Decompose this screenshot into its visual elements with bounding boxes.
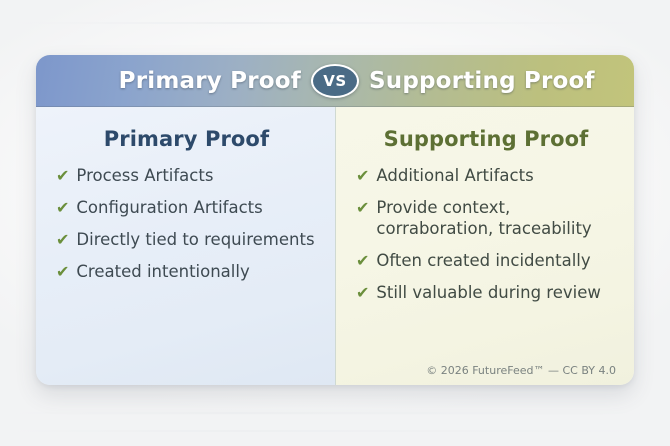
column-primary-proof: Primary Proof ✔ Process Artifacts ✔ Conf… [36,107,335,385]
point-text: Often created incidentally [376,250,590,271]
point-text: Additional Artifacts [376,165,533,186]
image-canvas: Primary Proof Supporting Proof VS Primar… [0,0,670,446]
check-icon: ✔ [356,282,369,303]
point-text: Provide context, corraboration, traceabi… [376,197,616,239]
point-text: Still valuable during review [376,282,600,303]
points-list-primary: ✔ Process Artifacts ✔ Configuration Arti… [56,165,317,282]
paper-texture-streak [0,430,670,432]
column-title-primary: Primary Proof [56,127,317,151]
check-icon: ✔ [56,229,69,250]
list-item: ✔ Provide context, corraboration, tracea… [356,197,616,239]
comparison-card: Primary Proof Supporting Proof VS Primar… [36,55,634,385]
list-item: ✔ Directly tied to requirements [56,229,317,250]
point-text: Configuration Artifacts [76,197,262,218]
list-item: ✔ Configuration Artifacts [56,197,317,218]
column-supporting-proof: Supporting Proof ✔ Additional Artifacts … [335,107,634,385]
paper-texture-streak [0,412,670,414]
list-item: ✔ Created intentionally [56,261,317,282]
point-text: Directly tied to requirements [76,229,314,250]
point-text: Created intentionally [76,261,249,282]
list-item: ✔ Additional Artifacts [356,165,616,186]
list-item: ✔ Process Artifacts [56,165,317,186]
paper-texture-streak [0,22,670,24]
list-item: ✔ Still valuable during review [356,282,616,303]
list-item: ✔ Often created incidentally [356,250,616,271]
points-list-supporting: ✔ Additional Artifacts ✔ Provide context… [356,165,616,303]
check-icon: ✔ [356,165,369,186]
check-icon: ✔ [56,197,69,218]
header-title-right: Supporting Proof [335,68,634,94]
footer-attribution: © 2026 FutureFeed™ — CC BY 4.0 [426,364,616,377]
card-body: Primary Proof ✔ Process Artifacts ✔ Conf… [36,107,634,385]
check-icon: ✔ [56,261,69,282]
header-title-left: Primary Proof [36,68,335,94]
card-header: Primary Proof Supporting Proof VS [36,55,634,107]
check-icon: ✔ [356,197,369,218]
check-icon: ✔ [356,250,369,271]
column-title-supporting: Supporting Proof [356,127,616,151]
point-text: Process Artifacts [76,165,213,186]
vs-badge: VS [311,64,359,98]
check-icon: ✔ [56,165,69,186]
